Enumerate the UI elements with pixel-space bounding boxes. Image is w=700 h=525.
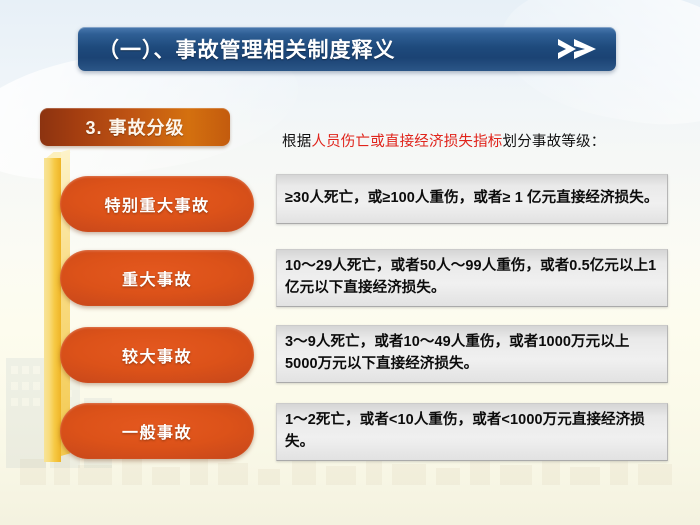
- level-pill-0[interactable]: 特别重大事故: [60, 176, 254, 232]
- double-chevron-right-icon: [554, 36, 602, 62]
- intro-suffix: 划分事故等级：: [503, 134, 606, 150]
- level-name-1: 重大事故: [122, 266, 192, 290]
- page-title: （一）、事故管理相关制度释义: [98, 34, 554, 64]
- level-pill-3[interactable]: 一般事故: [60, 403, 254, 459]
- level-row: 较大事故 3～9人死亡，或者10～49人重伤，或者1000万元以上5000万元以…: [60, 327, 676, 383]
- level-row: 一般事故 1～2死亡，或者<10人重伤，或者<1000万元直接经济损失。: [60, 403, 676, 461]
- section-header-label: 3. 事故分级: [85, 114, 184, 140]
- level-description-box-3: 1～2死亡，或者<10人重伤，或者<1000万元直接经济损失。: [276, 403, 668, 461]
- intro-highlight: 人员伤亡或直接经济损失指标: [311, 134, 502, 150]
- level-pill-1[interactable]: 重大事故: [60, 250, 254, 306]
- level-description-0: ≥30人死亡，或≥100人重伤，或者≥ 1 亿元直接经济损失。: [285, 188, 658, 210]
- level-description-box-2: 3～9人死亡，或者10～49人重伤，或者1000万元以上5000万元以下直接经济…: [276, 325, 668, 383]
- level-description-2: 3～9人死亡，或者10～49人重伤，或者1000万元以上5000万元以下直接经济…: [285, 332, 660, 376]
- intro-prefix: 根据: [282, 134, 311, 150]
- level-name-2: 较大事故: [122, 343, 192, 367]
- level-row: 特别重大事故 ≥30人死亡，或≥100人重伤，或者≥ 1 亿元直接经济损失。: [60, 176, 676, 232]
- slide-canvas: （一）、事故管理相关制度释义 3. 事故分级 根据人员伤亡或直接经济损失指标划分…: [0, 0, 700, 525]
- level-row: 重大事故 10～29人死亡，或者50人～99人重伤，或者0.5亿元以上1亿元以下…: [60, 250, 676, 307]
- level-description-box-1: 10～29人死亡，或者50人～99人重伤，或者0.5亿元以上1亿元以下直接经济损…: [276, 249, 668, 307]
- level-name-3: 一般事故: [122, 419, 192, 443]
- level-description-1: 10～29人死亡，或者50人～99人重伤，或者0.5亿元以上1亿元以下直接经济损…: [285, 256, 660, 300]
- level-pill-2[interactable]: 较大事故: [60, 327, 254, 383]
- level-description-box-0: ≥30人死亡，或≥100人重伤，或者≥ 1 亿元直接经济损失。: [276, 174, 668, 224]
- slide-title-bar: （一）、事故管理相关制度释义: [78, 27, 616, 71]
- level-description-3: 1～2死亡，或者<10人重伤，或者<1000万元直接经济损失。: [285, 410, 660, 454]
- level-name-0: 特别重大事故: [104, 192, 209, 216]
- intro-sentence: 根据人员伤亡或直接经济损失指标划分事故等级：: [282, 130, 605, 151]
- section-header-badge: 3. 事故分级: [40, 108, 230, 146]
- gold-bar-front-face: [44, 158, 61, 462]
